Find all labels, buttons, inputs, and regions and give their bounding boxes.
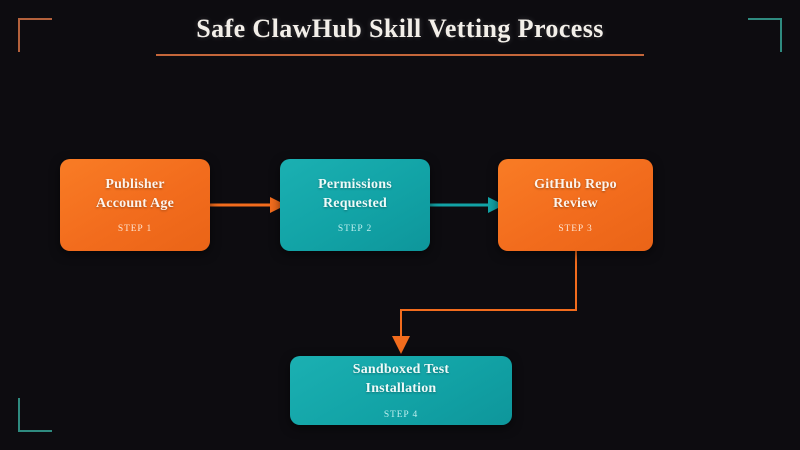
flow-node-step-badge: STEP 1	[118, 224, 152, 234]
connector-3-to-4	[392, 251, 576, 354]
flow-node-label: Publisher Account Age	[96, 176, 174, 213]
flow-node-step-badge: STEP 2	[338, 224, 372, 234]
title-underline-rule	[156, 54, 644, 56]
flow-node-label: GitHub Repo Review	[534, 176, 617, 213]
title-block: Safe ClawHub Skill Vetting Process	[0, 14, 800, 56]
flowchart-canvas: Safe ClawHub Skill Vetting Process Publi…	[0, 0, 800, 450]
connector-2-to-3	[430, 197, 504, 213]
flow-node-label: Permissions Requested	[318, 176, 392, 213]
flow-node-permissions-requested[interactable]: Permissions Requested STEP 2	[280, 159, 430, 251]
flow-node-label: Sandboxed Test Installation	[353, 361, 450, 398]
flow-node-sandboxed-test-installation[interactable]: Sandboxed Test Installation STEP 4	[290, 356, 512, 425]
page-title: Safe ClawHub Skill Vetting Process	[0, 14, 800, 44]
flow-node-publisher-account-age[interactable]: Publisher Account Age STEP 1	[60, 159, 210, 251]
corner-bracket-bottom-left-icon	[18, 398, 52, 432]
flow-node-github-repo-review[interactable]: GitHub Repo Review STEP 3	[498, 159, 653, 251]
flow-node-step-badge: STEP 3	[558, 224, 592, 234]
connector-1-to-2	[210, 197, 286, 213]
flow-node-step-badge: STEP 4	[384, 410, 418, 420]
